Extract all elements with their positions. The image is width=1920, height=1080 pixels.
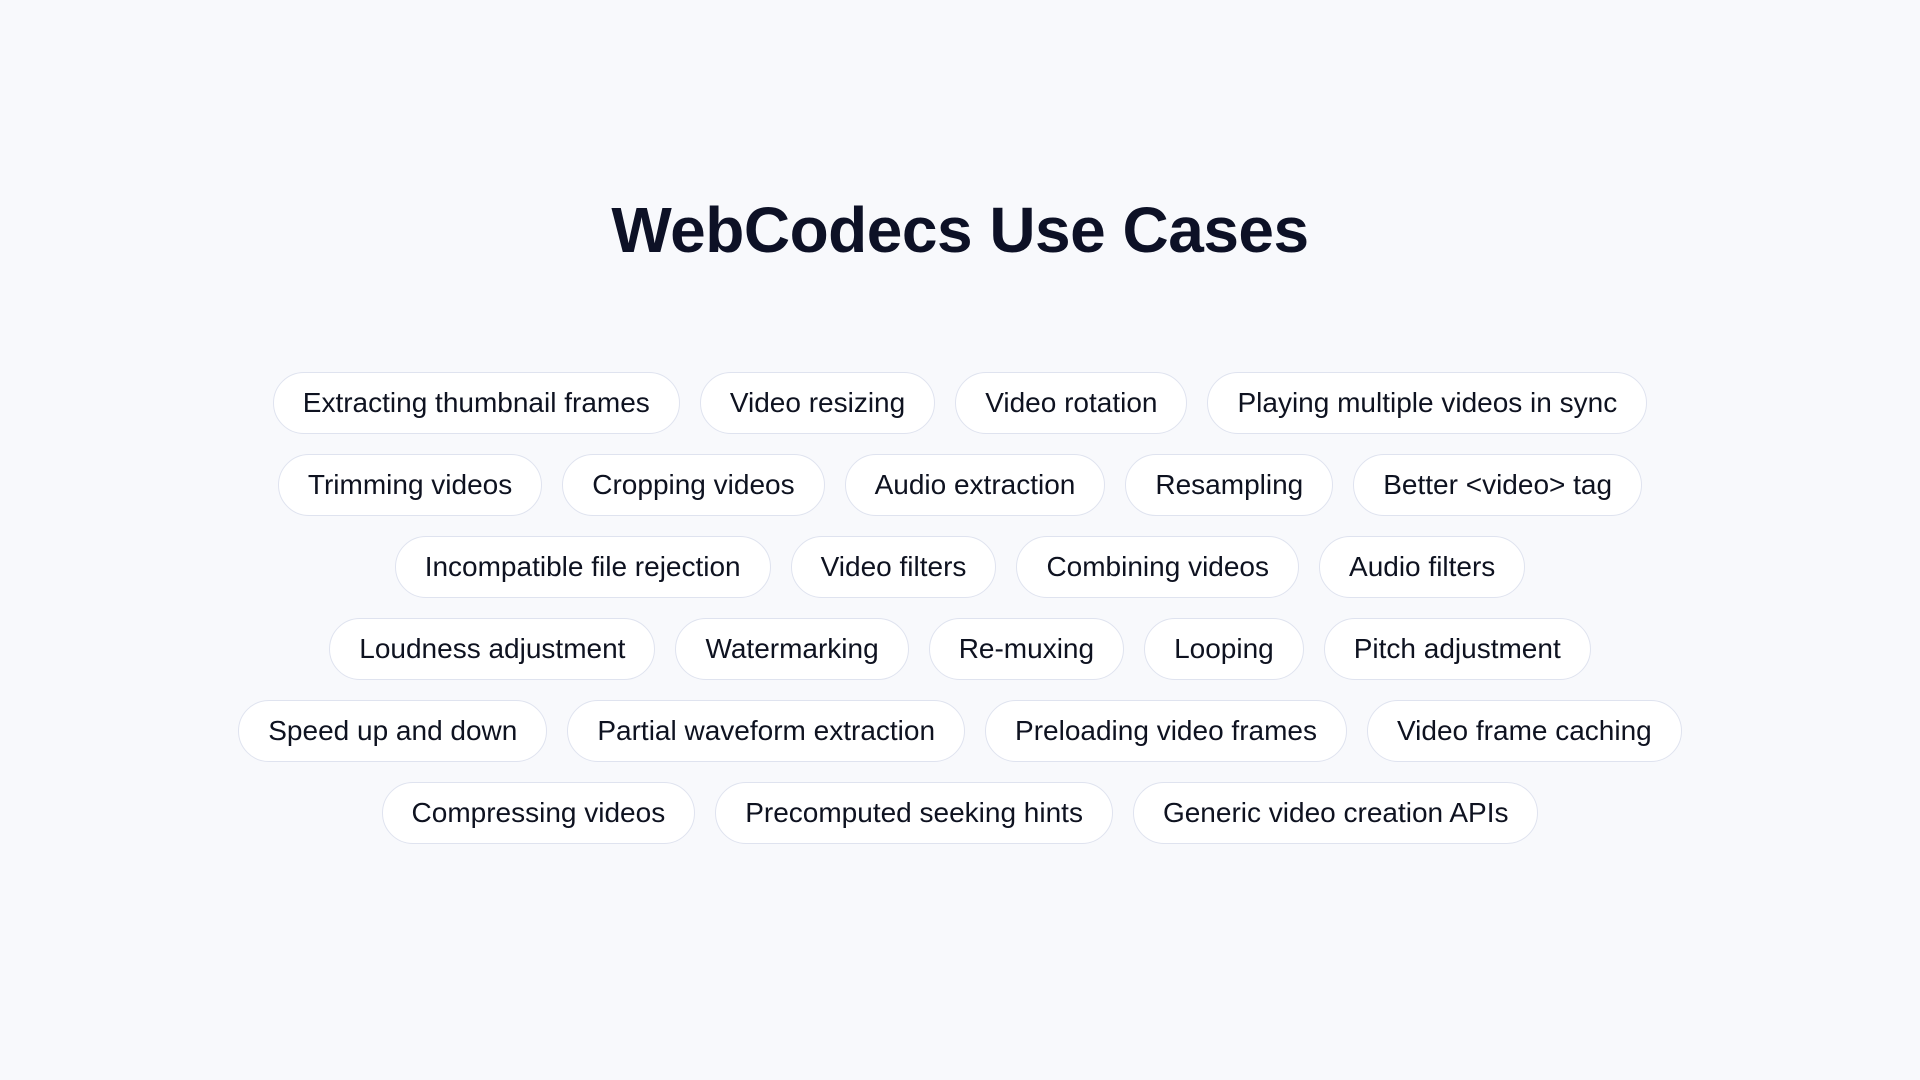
tag-pill[interactable]: Partial waveform extraction	[567, 700, 965, 762]
tag-pill[interactable]: Preloading video frames	[985, 700, 1347, 762]
tag-pill[interactable]: Combining videos	[1016, 536, 1299, 598]
tag-pill[interactable]: Looping	[1144, 618, 1304, 680]
page-root: WebCodecs Use Cases Extracting thumbnail…	[0, 0, 1920, 1080]
tag-pill[interactable]: Trimming videos	[278, 454, 542, 516]
tag-row: Compressing videos Precomputed seeking h…	[382, 782, 1539, 844]
tag-pill[interactable]: Watermarking	[675, 618, 908, 680]
tag-pill[interactable]: Extracting thumbnail frames	[273, 372, 680, 434]
tag-pill[interactable]: Incompatible file rejection	[395, 536, 771, 598]
tag-pill[interactable]: Video filters	[791, 536, 997, 598]
tag-pill[interactable]: Generic video creation APIs	[1133, 782, 1539, 844]
tag-row: Loudness adjustment Watermarking Re-muxi…	[329, 618, 1590, 680]
tag-pill[interactable]: Resampling	[1125, 454, 1333, 516]
tag-pill[interactable]: Cropping videos	[562, 454, 824, 516]
tag-pill[interactable]: Speed up and down	[238, 700, 547, 762]
tag-pill[interactable]: Better <video> tag	[1353, 454, 1642, 516]
tag-pill[interactable]: Precomputed seeking hints	[715, 782, 1113, 844]
tag-pill[interactable]: Pitch adjustment	[1324, 618, 1591, 680]
tag-cloud: Extracting thumbnail frames Video resizi…	[110, 372, 1810, 844]
tag-row: Extracting thumbnail frames Video resizi…	[273, 372, 1647, 434]
tag-row: Speed up and down Partial waveform extra…	[238, 700, 1682, 762]
tag-pill[interactable]: Re-muxing	[929, 618, 1124, 680]
page-title: WebCodecs Use Cases	[611, 198, 1308, 262]
tag-row: Incompatible file rejection Video filter…	[395, 536, 1526, 598]
tag-pill[interactable]: Audio filters	[1319, 536, 1525, 598]
tag-pill[interactable]: Audio extraction	[845, 454, 1106, 516]
tag-pill[interactable]: Compressing videos	[382, 782, 696, 844]
tag-pill[interactable]: Video frame caching	[1367, 700, 1682, 762]
tag-pill[interactable]: Video rotation	[955, 372, 1187, 434]
tag-row: Trimming videos Cropping videos Audio ex…	[278, 454, 1642, 516]
tag-pill[interactable]: Playing multiple videos in sync	[1207, 372, 1647, 434]
tag-pill[interactable]: Video resizing	[700, 372, 935, 434]
tag-pill[interactable]: Loudness adjustment	[329, 618, 655, 680]
